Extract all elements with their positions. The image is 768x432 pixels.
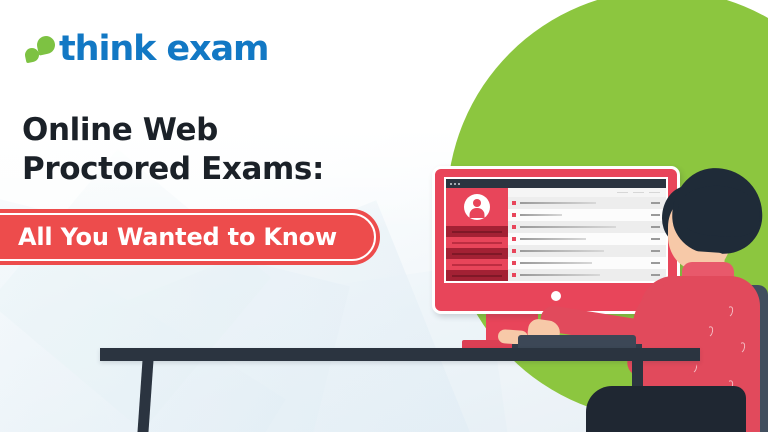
monitor — [432, 166, 680, 314]
row-text-line — [520, 238, 586, 240]
page-title: Online Web Proctored Exams: — [22, 111, 324, 190]
row-text-line — [520, 226, 616, 228]
header-mark — [649, 192, 660, 193]
sidebar-menu-item — [446, 281, 508, 283]
cta-label: All You Wanted to Know — [0, 209, 380, 265]
row-bullet-icon — [512, 237, 516, 241]
window-body — [446, 188, 666, 281]
exam-question-list — [508, 188, 666, 281]
window-dot-icon — [458, 183, 460, 185]
sidebar-menu-item — [446, 270, 508, 281]
two-leaf-mark-icon — [22, 33, 58, 67]
question-row — [508, 245, 666, 257]
row-text-line — [520, 202, 596, 204]
window-titlebar — [446, 179, 666, 188]
exam-sidebar — [446, 188, 508, 281]
row-tail-mark — [651, 202, 660, 204]
sidebar-menu — [446, 226, 508, 283]
row-bullet-icon — [512, 213, 516, 217]
list-header — [508, 188, 666, 197]
row-tail-mark — [651, 226, 660, 228]
sidebar-menu-item — [446, 237, 508, 248]
row-tail-mark — [651, 250, 660, 252]
row-tail-mark — [651, 262, 660, 264]
brand-logo[interactable]: think exam — [22, 32, 268, 67]
headline-line-2: Proctored Exams: — [22, 150, 324, 189]
sidebar-menu-item — [446, 248, 508, 259]
brand-name: think exam — [59, 32, 268, 67]
cta-banner[interactable]: All You Wanted to Know — [0, 209, 380, 265]
promo-banner: think exam Online Web Proctored Exams: A… — [0, 0, 768, 432]
sidebar-menu-item — [446, 226, 508, 237]
row-tail-mark — [651, 238, 660, 240]
chair-seat — [586, 386, 746, 432]
desk-top — [100, 348, 700, 361]
row-bullet-icon — [512, 225, 516, 229]
question-row — [508, 197, 666, 209]
monitor-screen — [444, 177, 668, 283]
window-dot-icon — [454, 183, 456, 185]
header-mark — [633, 192, 644, 193]
row-tail-mark — [651, 274, 660, 276]
question-row — [508, 233, 666, 245]
row-bullet-icon — [512, 261, 516, 265]
row-text-line — [520, 274, 600, 276]
row-bullet-icon — [512, 273, 516, 277]
desk-leg-left — [137, 360, 153, 432]
question-row — [508, 209, 666, 221]
sidebar-menu-item — [446, 259, 508, 270]
question-row — [508, 257, 666, 269]
question-row — [508, 269, 666, 281]
headline-line-1: Online Web — [22, 111, 324, 150]
question-row — [508, 221, 666, 233]
window-dot-icon — [450, 183, 452, 185]
row-tail-mark — [651, 214, 660, 216]
row-text-line — [520, 214, 562, 216]
monitor-power-indicator — [551, 291, 561, 301]
user-avatar-icon — [464, 194, 490, 220]
row-text-line — [520, 262, 592, 264]
header-mark — [617, 192, 628, 193]
row-bullet-icon — [512, 249, 516, 253]
row-text-line — [520, 250, 604, 252]
row-bullet-icon — [512, 201, 516, 205]
